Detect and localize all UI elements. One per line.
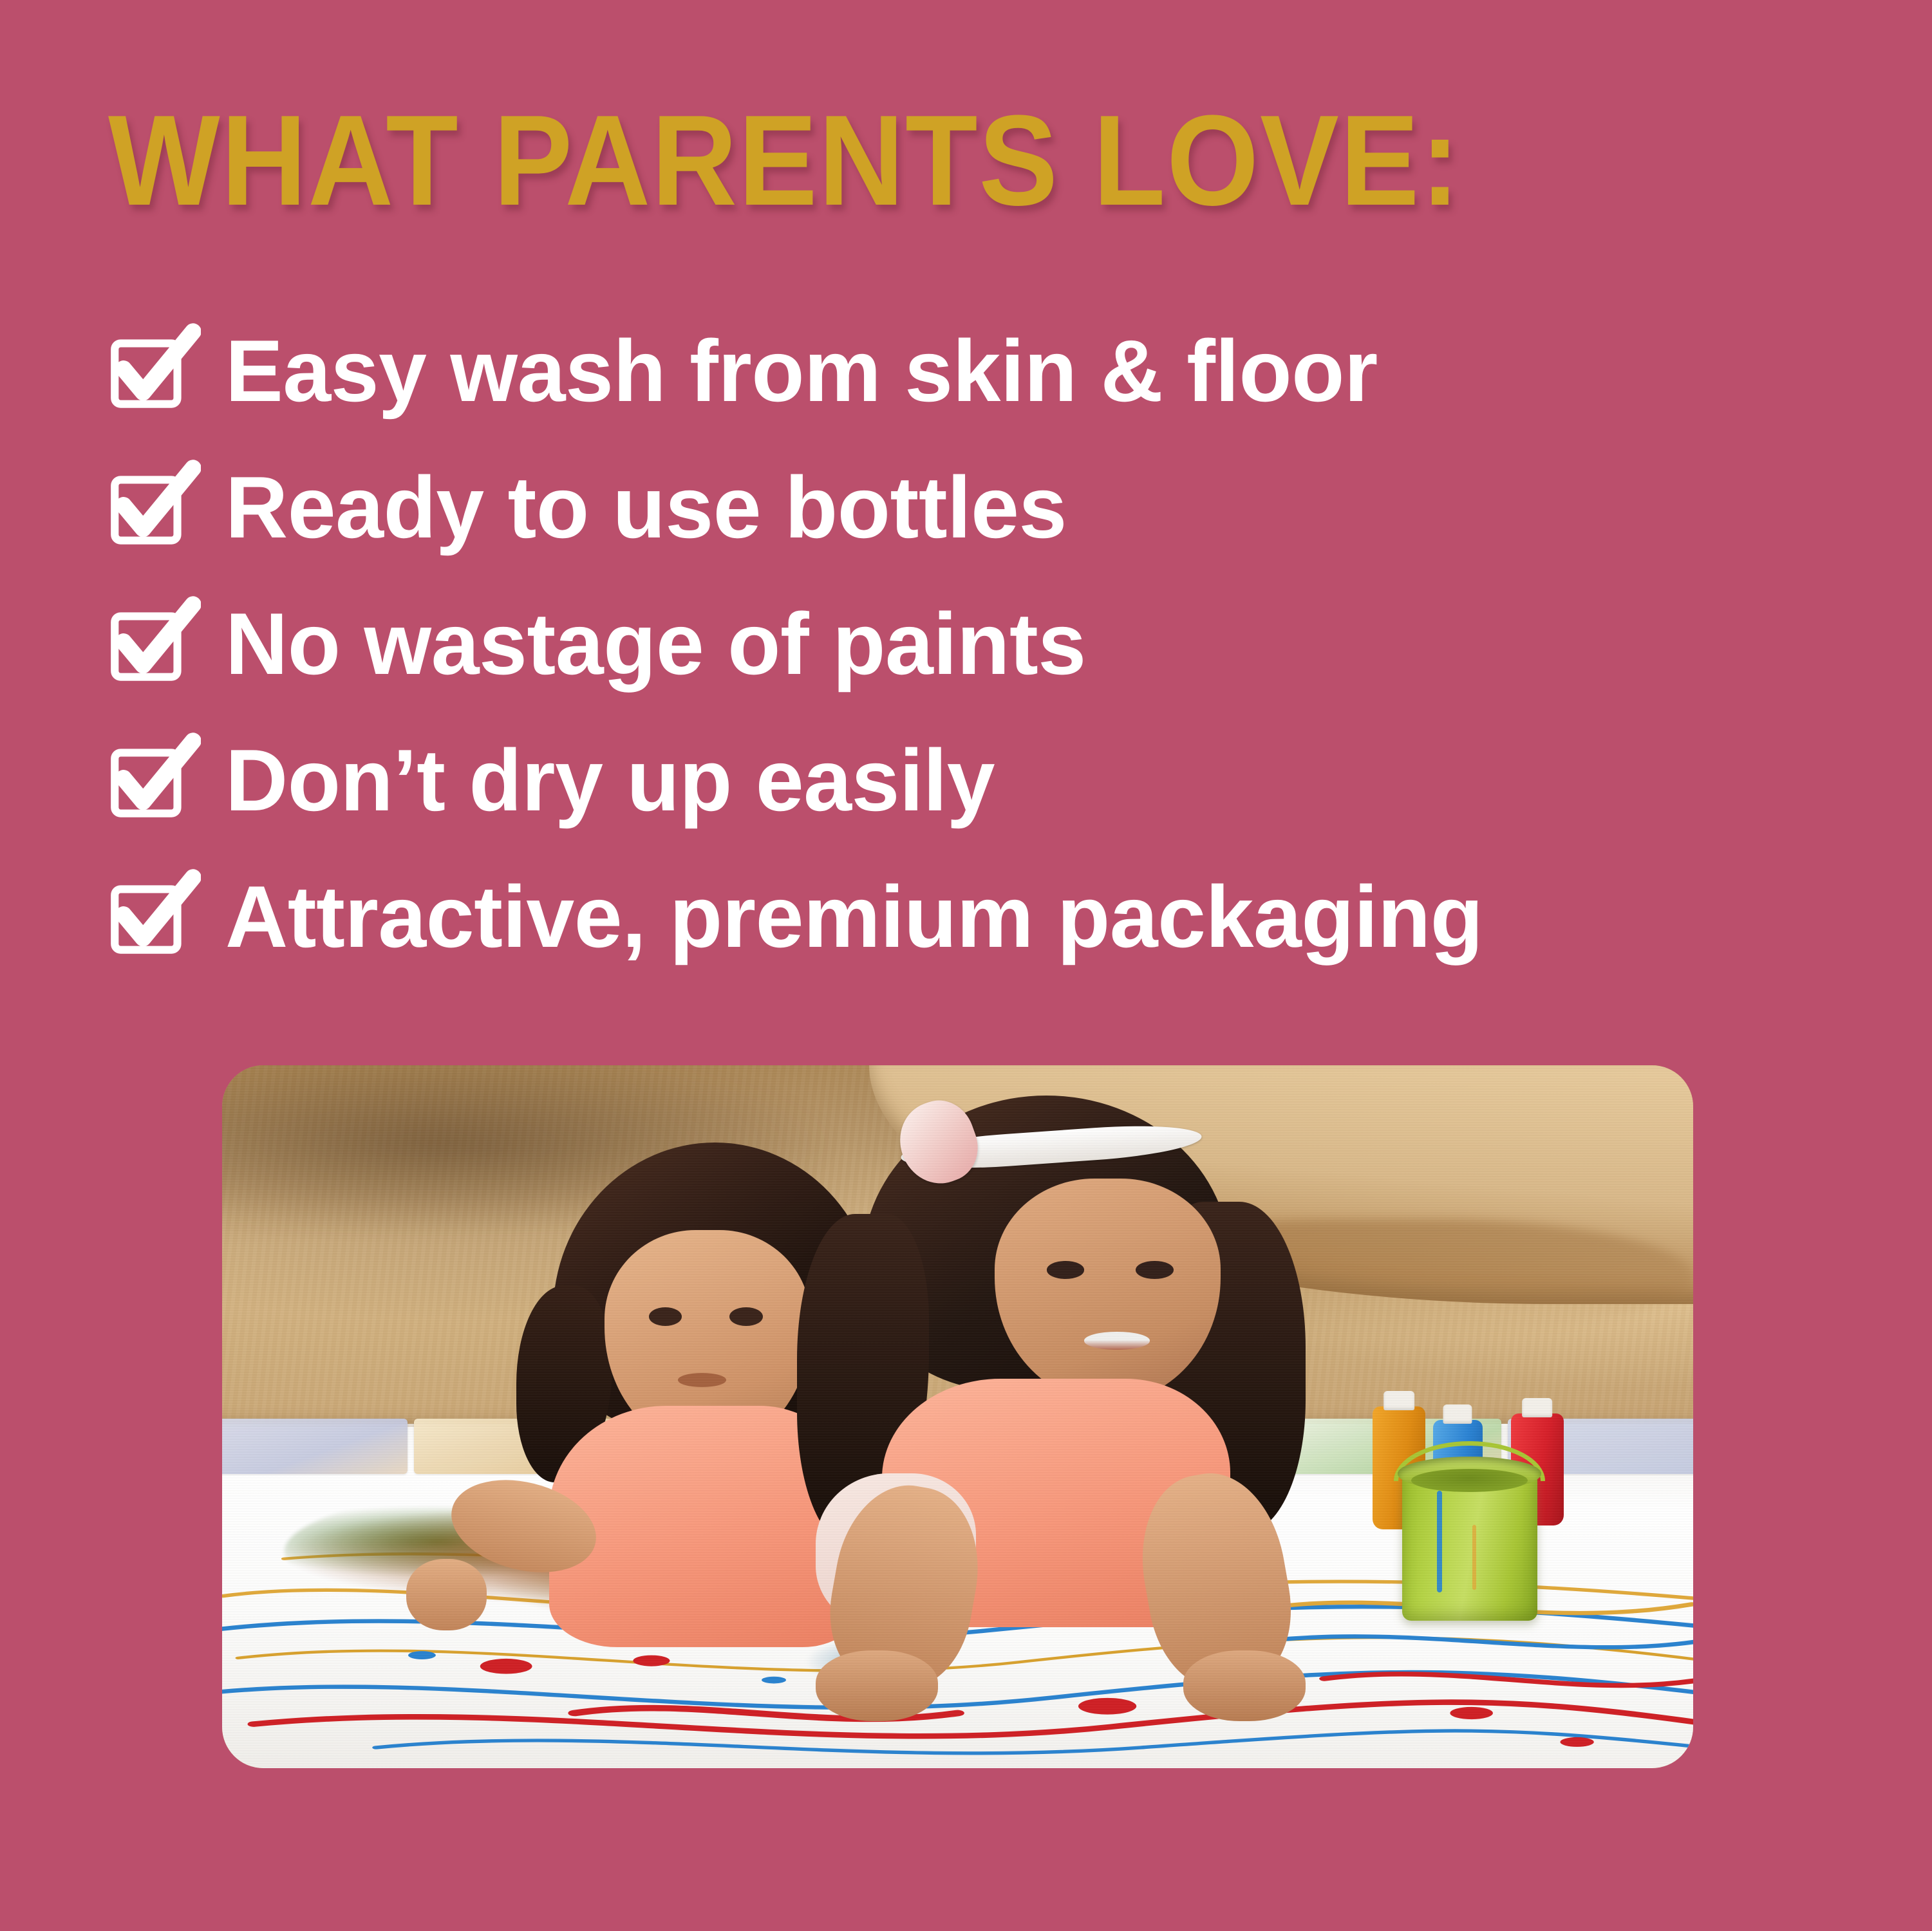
hand-right xyxy=(1183,1650,1306,1721)
bucket-orange-drip xyxy=(1472,1525,1476,1590)
eye-right xyxy=(729,1307,762,1326)
bottle-cap xyxy=(1443,1404,1472,1424)
list-item: Attractive, premium packaging xyxy=(103,848,1880,985)
list-item-label: Easy wash from skin & floor xyxy=(225,326,1378,416)
list-item: Don’t dry up easily xyxy=(103,712,1880,848)
checkbox-checked-icon xyxy=(103,868,201,966)
green-paint-bucket xyxy=(1402,1466,1537,1620)
checkbox-checked-icon xyxy=(103,595,201,693)
hand-left xyxy=(816,1650,938,1721)
page-title: WHAT PARENTS LOVE: xyxy=(108,97,1461,225)
checkbox-checked-icon xyxy=(103,322,201,420)
bucket-interior xyxy=(1411,1469,1528,1492)
list-item: Ready to use bottles xyxy=(103,439,1880,575)
eye-left xyxy=(1047,1261,1084,1279)
eye-right xyxy=(1136,1261,1173,1279)
list-item: No wastage of paints xyxy=(103,575,1880,712)
list-item-label: Don’t dry up easily xyxy=(225,736,995,825)
list-item: Easy wash from skin & floor xyxy=(103,303,1880,439)
bottle-cap xyxy=(1522,1398,1553,1417)
hand-left xyxy=(406,1559,487,1630)
list-item-label: Ready to use bottles xyxy=(225,463,1067,552)
checkbox-checked-icon xyxy=(103,458,201,556)
checkbox-checked-icon xyxy=(103,731,201,829)
list-item-label: Attractive, premium packaging xyxy=(225,872,1483,962)
benefits-list: Easy wash from skin & floor Ready to use… xyxy=(103,303,1880,985)
bucket-blue-drip xyxy=(1437,1491,1441,1593)
list-item-label: No wastage of paints xyxy=(225,599,1086,689)
bottle-cap xyxy=(1383,1391,1414,1410)
eye-left xyxy=(649,1307,682,1326)
mouth xyxy=(678,1373,726,1387)
girl-right xyxy=(825,1108,1296,1698)
mouth xyxy=(1084,1332,1150,1350)
poster-canvas: WHAT PARENTS LOVE: Easy wash from skin &… xyxy=(0,0,1932,1931)
product-lifestyle-photo xyxy=(222,1065,1693,1768)
